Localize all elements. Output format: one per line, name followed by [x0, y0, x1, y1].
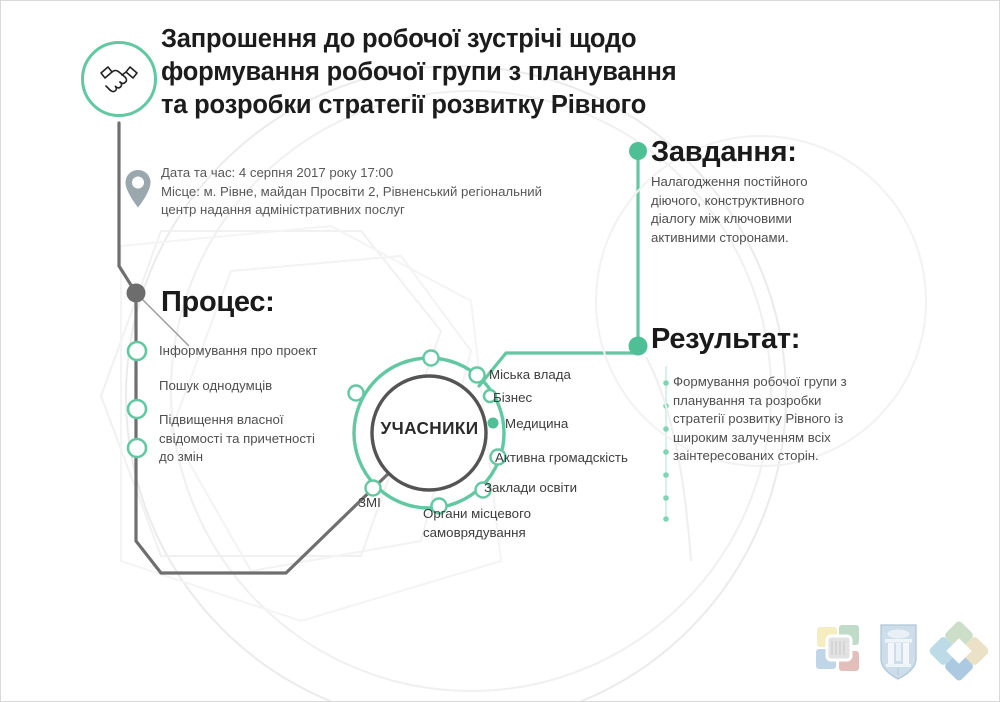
process-item-0: Інформування про проект [159, 342, 329, 361]
participant-label-miska-vlada: Міська влада [489, 367, 571, 382]
page-title-line-3: та розробки стратегії розвитку Рівного [161, 89, 781, 122]
process-item-2: Підвищення власної свідомості та причетн… [159, 411, 329, 467]
process-markers [121, 331, 157, 471]
meta-line-datetime: Дата та час: 4 серпня 2017 року 17:00 [161, 164, 631, 183]
participant-label-zaklady-osvity: Заклади освіти [484, 480, 577, 495]
result-body: Формування робочої групи з планування та… [673, 373, 848, 466]
participant-label-organy-mistsevoho-samovriaduvannia: Органи місцевого самоврядування [423, 505, 558, 542]
process-list: Інформування про проект Пошук однодумців… [159, 342, 329, 483]
participant-label-biznes: Бізнес [493, 390, 532, 405]
participant-label-medytsyna: Медицина [505, 416, 568, 431]
page-title: Запрошення до робочої зустрічі щодо форм… [161, 23, 781, 122]
participant-label-zmi: ЗМІ [358, 495, 381, 510]
page-title-line-2: формування робочої групи з планування [161, 56, 781, 89]
task-body: Налагодження постійного діючого, констру… [651, 173, 851, 247]
meta-line-place-1: Місце: м. Рівне, майдан Просвіти 2, Рівн… [161, 183, 631, 202]
process-heading: Процес: [161, 286, 275, 319]
handshake-icon [97, 61, 141, 97]
handshake-badge [81, 41, 157, 117]
squares-logo [816, 625, 859, 671]
infographic-canvas: Запрошення до робочої зустрічі щодо форм… [0, 0, 1000, 702]
meta-line-place-2: центр надання адміністративних послуг [161, 201, 631, 220]
map-pin-icon [123, 169, 153, 209]
rivne-coat-of-arms-logo [881, 625, 916, 679]
page-title-line-1: Запрошення до робочої зустрічі щодо [161, 23, 781, 56]
participants-center-label: УЧАСНИКИ [373, 418, 486, 439]
logo-strip [813, 619, 988, 687]
participant-label-aktyvna-hromadskist: Активна громадскість [495, 450, 628, 465]
process-item-1: Пошук однодумців [159, 377, 329, 396]
result-heading: Результат: [651, 323, 800, 356]
task-heading: Завдання: [651, 136, 797, 169]
diamond-logo [928, 620, 988, 682]
meta-block: Дата та час: 4 серпня 2017 року 17:00 Мі… [161, 164, 631, 220]
